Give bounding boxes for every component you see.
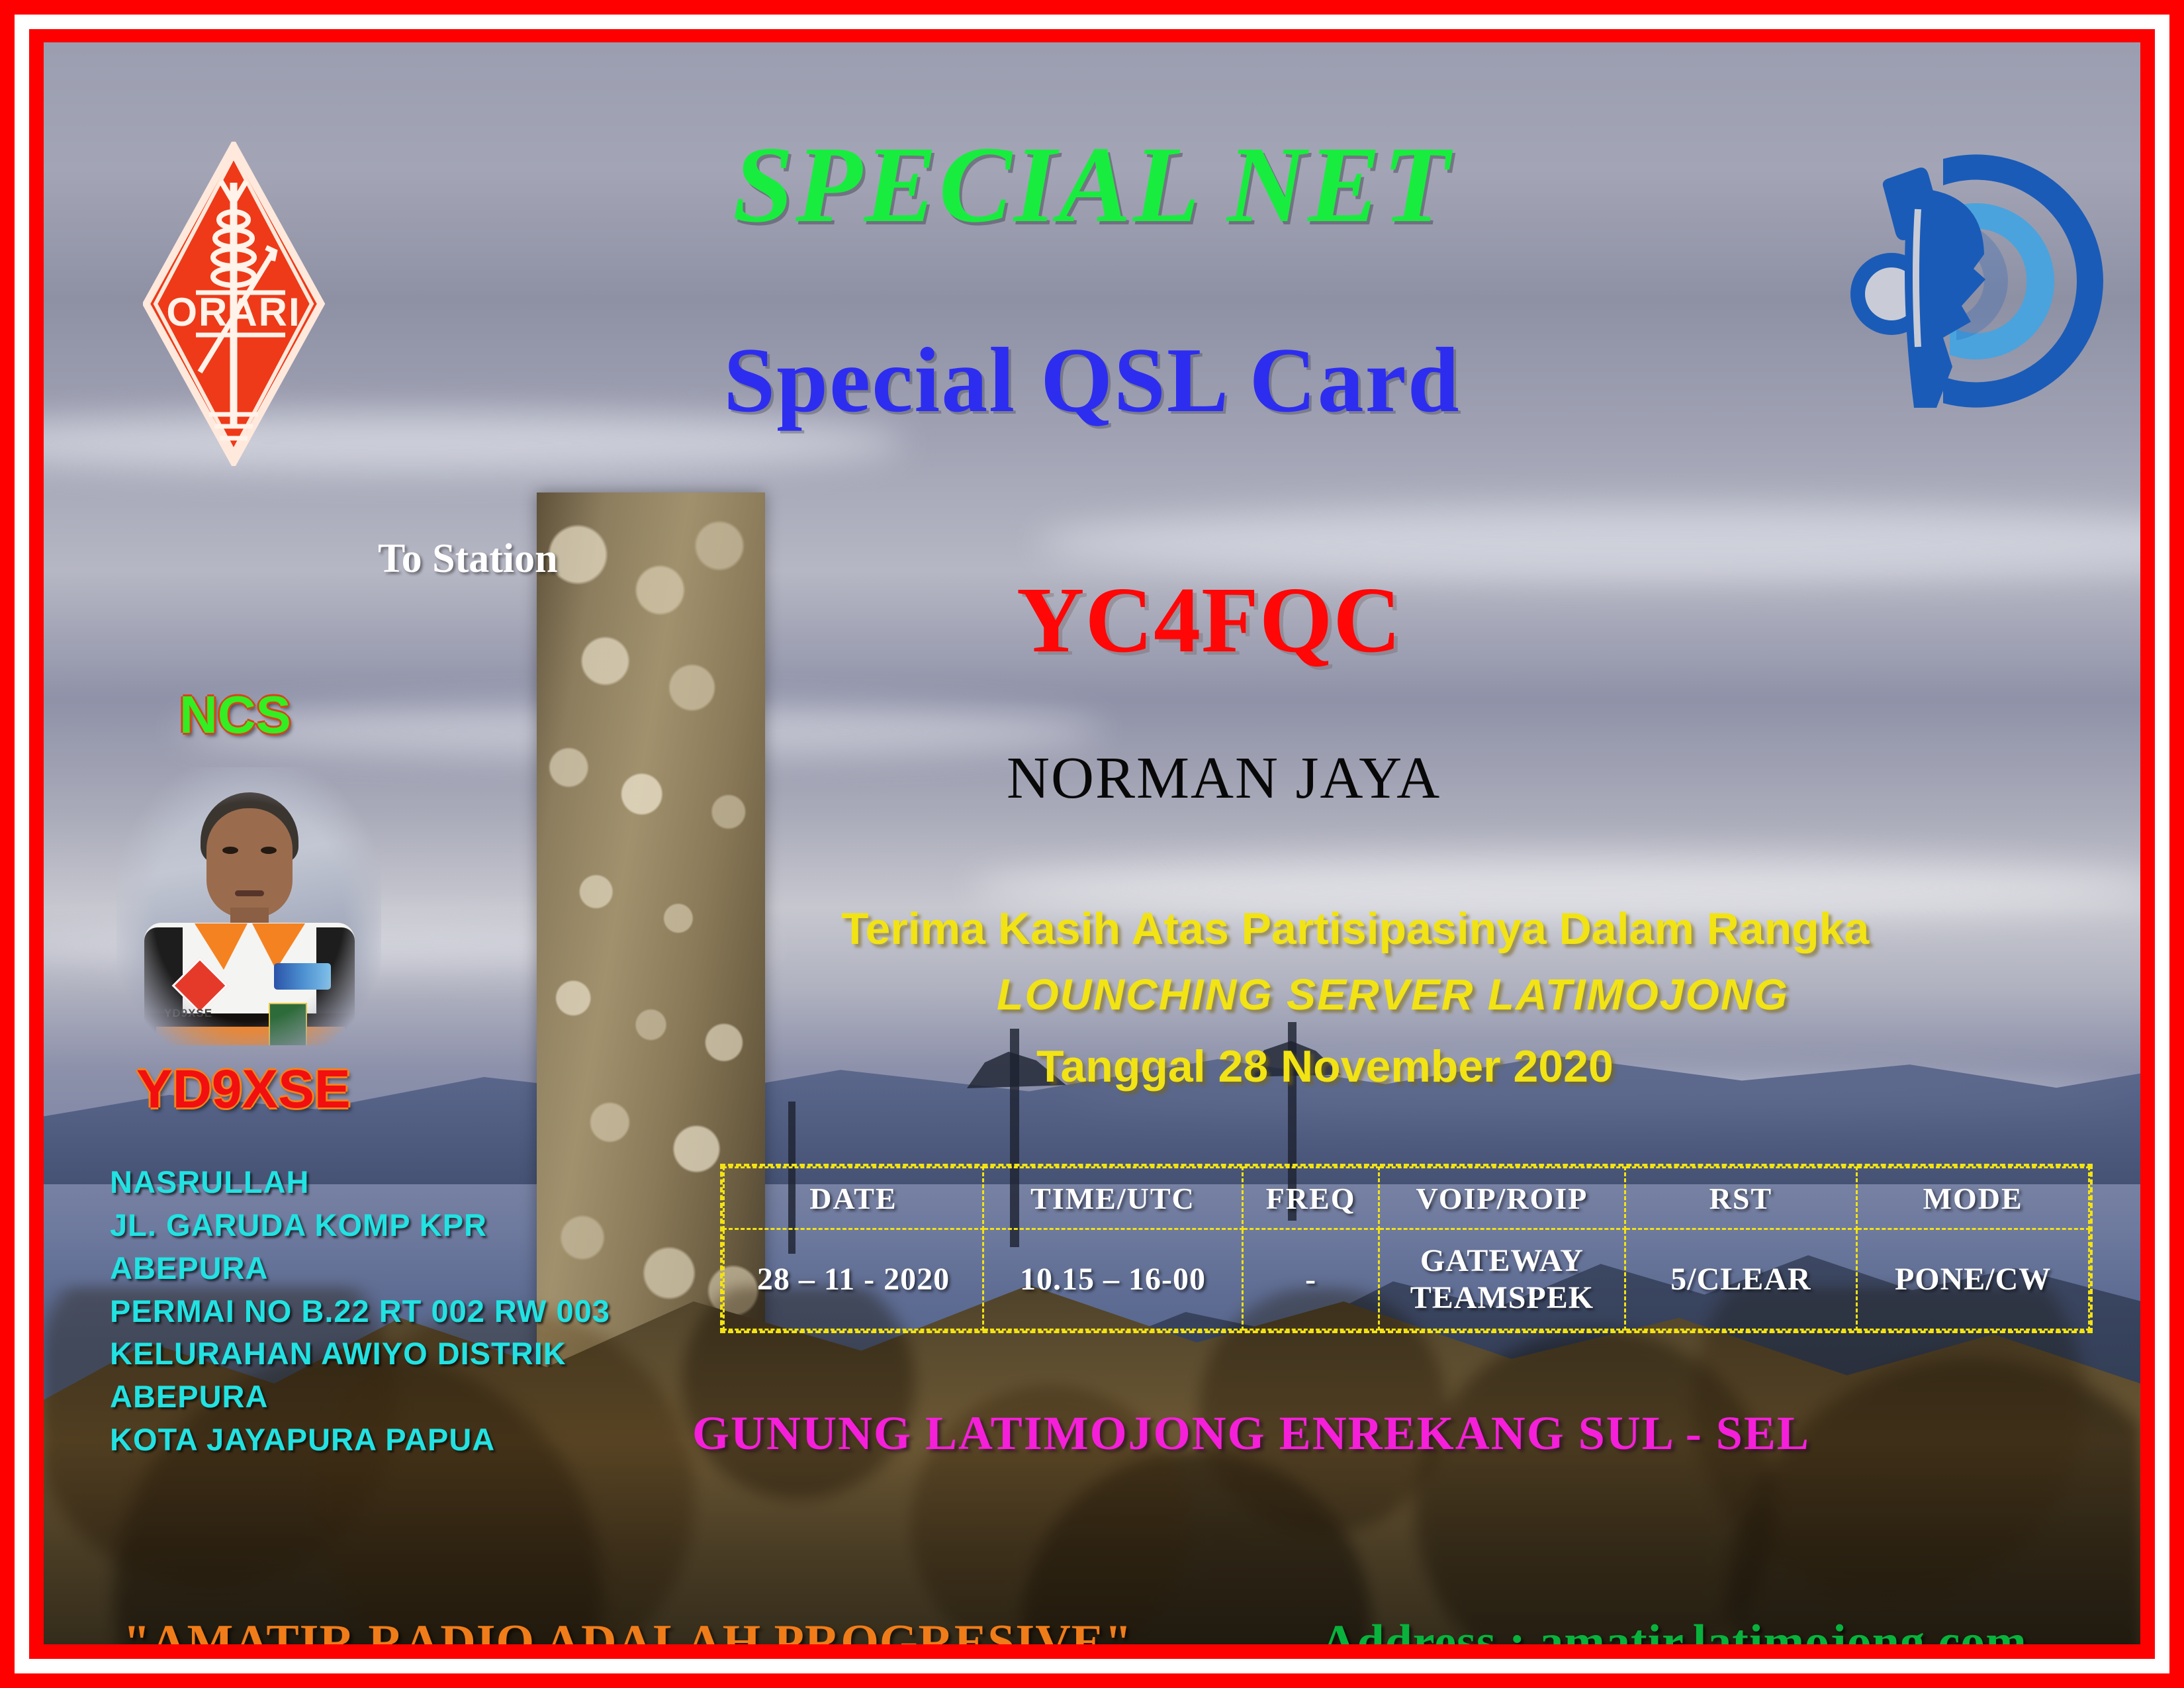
ncs-address-block: NASRULLAH JL. GARUDA KOMP KPR ABEPURA PE… xyxy=(110,1161,610,1462)
column-header-freq: FREQ xyxy=(1242,1168,1379,1229)
to-station-label: To Station xyxy=(378,536,558,583)
address-line: ABEPURA xyxy=(110,1247,610,1290)
page-title: SPECIAL NET xyxy=(44,122,2140,248)
uniform-callsign-patch: YD9XSE xyxy=(164,1007,212,1020)
address-line: PERMAI NO B.22 RT 002 RW 003 xyxy=(110,1290,610,1333)
cell-mode: PONE/CW xyxy=(1857,1229,2089,1330)
cell-date: 28 – 11 - 2020 xyxy=(724,1229,983,1330)
operator-name: NORMAN JAYA xyxy=(1007,744,1441,812)
qso-log-table: DATE TIME/UTC FREQ VOIP/ROIP RST MODE 28… xyxy=(720,1164,2093,1333)
ncs-role-label: NCS xyxy=(179,684,291,745)
cell-rst: 5/CLEAR xyxy=(1625,1229,1857,1330)
address-line: NASRULLAH xyxy=(110,1161,610,1204)
cell-freq: - xyxy=(1242,1229,1379,1330)
slogan-text: "AMATIR RADIO ADALAH PROGRESIVE" xyxy=(123,1615,1132,1644)
ncs-operator-photo: YD9XSE xyxy=(116,767,381,1045)
page-subtitle: Special QSL Card xyxy=(44,327,2140,434)
table-header-row: DATE TIME/UTC FREQ VOIP/ROIP RST MODE xyxy=(724,1168,2089,1229)
cell-time: 10.15 – 16-00 xyxy=(983,1229,1242,1330)
event-name: LOUNCHING SERVER LATIMOJONG xyxy=(997,969,1789,1019)
website-address: Address : amatir.latimojong.com xyxy=(1321,1615,2027,1644)
thanks-message: Terima Kasih Atas Partisipasinya Dalam R… xyxy=(841,903,1869,955)
column-header-rst: RST xyxy=(1625,1168,1857,1229)
column-header-time: TIME/UTC xyxy=(983,1168,1242,1229)
card-background-photo: ORARI xyxy=(44,42,2140,1644)
column-header-mode: MODE xyxy=(1857,1168,2089,1229)
cell-voip-line1: GATEWAY xyxy=(1381,1243,1623,1279)
address-line: JL. GARUDA KOMP KPR xyxy=(110,1204,610,1247)
cell-voip-line2: TEAMSPEK xyxy=(1381,1280,1623,1316)
address-line: ABEPURA xyxy=(110,1376,610,1419)
address-line: KELURAHAN AWIYO DISTRIK xyxy=(110,1333,610,1376)
qsl-card: ORARI xyxy=(0,0,2184,1688)
column-header-voip: VOIP/ROIP xyxy=(1379,1168,1625,1229)
station-callsign: YC4FQC xyxy=(1017,565,1402,674)
column-header-date: DATE xyxy=(724,1168,983,1229)
event-date: Tanggal 28 November 2020 xyxy=(1036,1041,1614,1092)
location-text: GUNUNG LATIMOJONG ENREKANG SUL - SEL xyxy=(692,1406,1810,1461)
table-row: 28 – 11 - 2020 10.15 – 16-00 - GATEWAY T… xyxy=(724,1229,2089,1330)
ncs-callsign: YD9XSE xyxy=(136,1058,351,1121)
cell-voip: GATEWAY TEAMSPEK xyxy=(1379,1229,1625,1330)
address-line: KOTA JAYAPURA PAPUA xyxy=(110,1419,610,1462)
